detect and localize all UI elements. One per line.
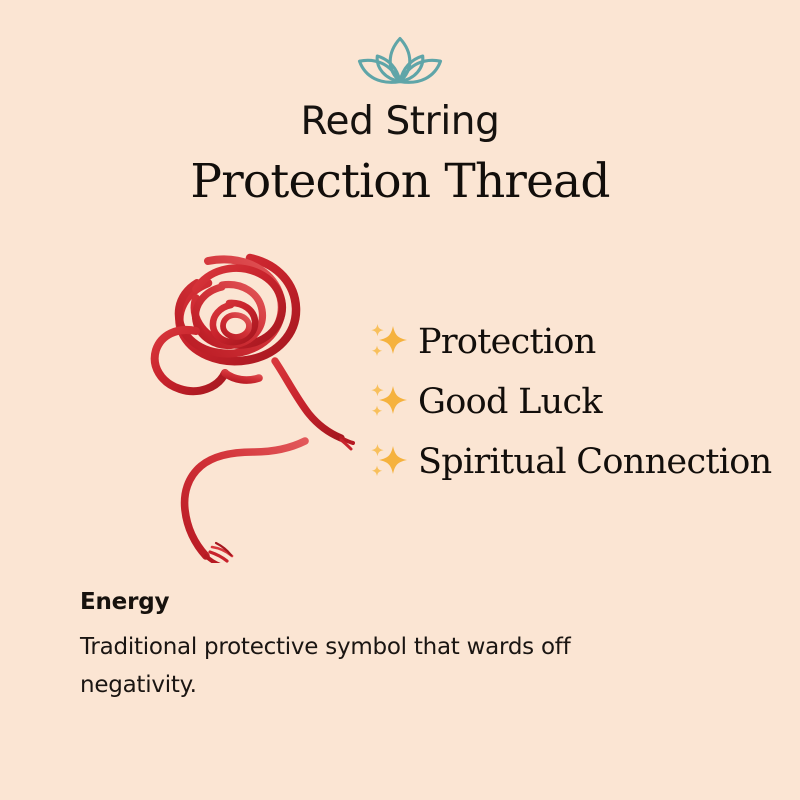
note-title: Energy bbox=[80, 588, 720, 618]
benefit-label: Good Luck bbox=[418, 385, 602, 420]
product-info-card: Red String Protection Thread bbox=[0, 0, 800, 800]
sparkles-icon bbox=[368, 381, 410, 423]
note-body: Traditional protective symbol that wards… bbox=[80, 628, 692, 704]
benefit-label: Protection bbox=[418, 325, 596, 360]
sparkles-icon bbox=[368, 441, 410, 483]
list-item: Good Luck bbox=[368, 372, 788, 432]
product-eyebrow: Red String bbox=[0, 101, 800, 143]
lotus-icon bbox=[352, 33, 448, 87]
list-item: Spiritual Connection bbox=[368, 432, 788, 492]
benefit-label: Spiritual Connection bbox=[418, 445, 771, 480]
lotus-emblem bbox=[0, 32, 800, 88]
red-string-thread-photo bbox=[100, 243, 355, 563]
page-title: Protection Thread bbox=[0, 157, 800, 208]
energy-note: Energy Traditional protective symbol tha… bbox=[80, 588, 720, 704]
list-item: Protection bbox=[368, 312, 788, 372]
benefits-list: Protection Good Luck Spiritual Conne bbox=[368, 312, 788, 492]
sparkles-icon bbox=[368, 321, 410, 363]
